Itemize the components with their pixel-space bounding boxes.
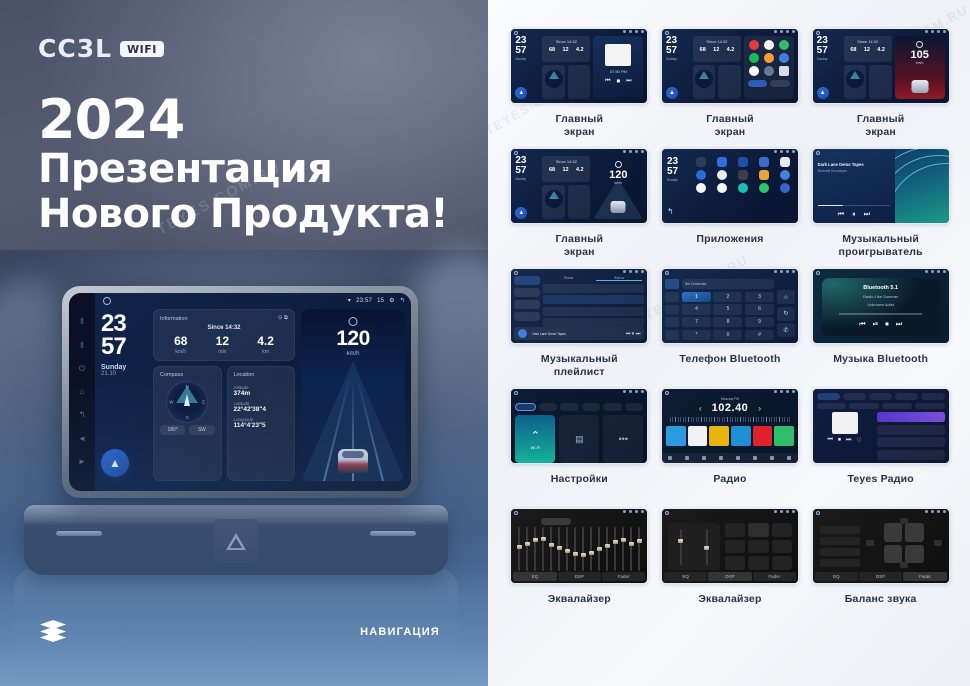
bt-track-label: Radio Like Summer [863,294,898,299]
stop-button[interactable]: ⏹ [885,321,889,329]
home-icon [665,271,669,275]
mini-home-screen: 2357Sunday ▲ Since 14:32 68124.2 [662,29,798,103]
tab-dsp[interactable]: DSP [558,572,601,581]
play-pause-button[interactable]: ⏯ [873,321,879,329]
key-3[interactable]: 3 [745,292,774,302]
home-icon [665,391,669,395]
mini-teyes-radio-screen: ⏮ ⏹ ⏭ ♡ [813,389,949,463]
key-9[interactable]: 9 [745,317,774,327]
key-hash[interactable]: # [745,330,774,340]
thumbnail-caption: Приложения [696,233,763,246]
preset-button[interactable] [725,540,745,554]
radio-frequency: 102.40 [712,402,749,414]
widgets-row: Compass N E S W [153,366,295,481]
compass-direction: SW [189,425,214,435]
preset-button[interactable] [725,556,745,570]
grid-cell[interactable]: Moscow FM ‹ 102.40 › [661,388,800,508]
favorite-icon[interactable]: ♡ [856,437,861,444]
thumbnail-apps[interactable]: 2357Sunday ↰ [661,148,799,224]
speaker-rear-left[interactable] [884,545,903,564]
thumbnail-home-apps[interactable]: 2357Sunday ▲ Since 14:32 68124.2 [661,28,799,104]
mini-music-player: Dark Lane Demo Tapes Виталий Белозеров ⏮… [813,149,949,223]
preset-button[interactable] [820,526,860,534]
compass-heading: 180° [160,425,185,435]
navigation-fab-button[interactable]: ▲ [817,87,829,99]
trip-stat: 4.2 km [257,335,274,355]
brand-logo: CC3L WIFI [38,34,164,63]
mini-status-bar [623,510,644,513]
hazard-triangle-icon [226,533,246,550]
band-slider[interactable] [566,527,568,571]
mini-status-bar [623,390,644,393]
preset-4[interactable] [731,426,751,446]
preset-button[interactable] [772,523,792,537]
grid-cell[interactable]: 2357Sunday ▲ Since 14:32 68124.2 [811,28,950,148]
air-vent-right [370,531,416,536]
caption-line: плейлист [541,366,618,379]
volume-level: 15 [377,298,384,304]
thumbnail-bluetooth-phone[interactable]: Not Connected 1 2 3 4 5 6 7 8 9 [661,268,799,344]
power-key-icon[interactable]: ⏻ [79,365,85,373]
home-key-icon[interactable]: ⌂ [80,388,85,396]
wifi-card[interactable]: ⌃ Wi-Fi [515,415,555,463]
speaker-front-left[interactable] [884,523,903,542]
caption-line: Баланс звука [845,593,917,606]
preset-2[interactable] [688,426,708,446]
dsp-slider[interactable] [680,529,682,565]
location-card[interactable]: Location Altitude 374m Latitude 22°42'38… [227,366,296,481]
speaker-quadrants[interactable] [884,523,924,563]
tab-home[interactable] [817,393,840,400]
mini-info-card: Since 14:32 68124.2 [542,36,590,62]
mini-clock-column: 2357 Sunday ▲ [515,36,539,99]
since-label: Since 14:32 [160,325,288,331]
band-slider[interactable] [598,527,600,571]
tab-fader[interactable]: Fader [903,572,946,581]
location-value: 22°42'38"4 [234,406,289,413]
balance-presets[interactable] [820,523,860,570]
grid-cell[interactable]: 2357Sunday ▲ Since 14:32 68124.2 [661,28,800,148]
thumbnail-caption: Баланс звука [845,593,917,606]
caption-line: Эквалайзер [698,593,761,606]
band-slider[interactable] [622,527,624,571]
tab-eq[interactable]: EQ [513,572,556,581]
equalizer-tabs[interactable]: EQ DSP Fader [813,572,949,583]
thumbnail-radio[interactable]: Moscow FM ‹ 102.40 › [661,388,799,464]
compass-mark-e: E [202,400,205,405]
favorite-icon[interactable]: ☆ [777,290,795,304]
mini-home-screen: 2357Sunday ▲ Since 14:32 68124.2 [813,29,949,103]
tab-wifi[interactable] [515,403,536,411]
back-icon[interactable]: ↰ [667,207,689,219]
key-1[interactable]: 1 [682,292,711,302]
location-value: 114°4'23"5 [234,422,289,429]
thumbnail-home-nav-105[interactable]: 2357Sunday ▲ Since 14:32 68124.2 [812,28,950,104]
track-title: Dark Lane Demo Tapes [818,162,890,167]
equalizer-bands[interactable] [518,527,640,571]
balance-right-button[interactable] [934,540,942,546]
tab-podcasts[interactable] [843,393,866,400]
home-icon [816,271,820,275]
previous-button[interactable]: ⏮ [859,321,865,329]
tab-sound[interactable] [539,403,558,411]
player-visualizer [895,149,949,223]
progress-bar[interactable] [818,205,890,207]
hazard-light-button[interactable] [214,519,258,563]
clock-block: 23 57 Sunday 21.10 [101,313,147,377]
teyes-station-list[interactable] [877,412,945,464]
radio-bottom-bar[interactable] [662,453,798,463]
settings-cards[interactable]: ⌃ Wi-Fi ▤ ••• [515,415,643,463]
preset-button[interactable] [725,523,745,537]
next-button[interactable]: ⏭ [896,321,902,329]
preset-button[interactable] [748,556,768,570]
prev-station-button[interactable]: ‹ [699,404,702,413]
head-unit-screen[interactable]: ⦀ ⦀ ⏻ ⌂ ↰ ◄ ► ▾ 23:57 15 [69,293,411,491]
key-2[interactable]: 2 [713,292,742,302]
key-4[interactable]: 4 [682,304,711,314]
mini-clock-column: 2357Sunday ▲ [817,36,841,99]
playlist-item[interactable] [543,318,644,327]
band-slider[interactable] [582,527,584,571]
band-slider[interactable] [518,527,520,571]
mini-info-card: Since 14:32 68124.2 [542,156,590,182]
navigation-fab-button[interactable]: ▲ [515,207,527,219]
mute-key-icon[interactable]: ⦀ [80,318,84,326]
mini-widgets-column: Since 14:32 68124.2 [542,156,590,219]
station-row[interactable] [877,450,945,460]
thumbnail-music-player[interactable]: Dark Lane Demo Tapes Виталий Белозеров ⏮… [812,148,950,224]
speaker-front-right[interactable] [905,523,924,542]
next-key-icon[interactable]: ⦀ [80,342,84,350]
preset-5[interactable] [753,426,773,446]
mini-location-card [718,65,741,99]
location-title: Location [234,372,289,378]
balance-down-button[interactable] [900,562,908,568]
thumbnail-teyes-radio[interactable]: ⏮ ⏹ ⏭ ♡ [812,388,950,464]
caption-line: Главный [706,113,754,126]
mini-clock-column: 2357Sunday ▲ [515,156,539,219]
back-key-icon[interactable]: ↰ [79,411,86,419]
thumbnail-caption: Телефон Bluetooth [679,353,780,366]
tab-dsp[interactable]: DSP [859,572,902,581]
caption-line: экран [556,246,604,259]
previous-button[interactable]: ⏮ [838,211,844,219]
grid-cell[interactable]: EQ DSP Fader Эквалайзер [661,508,800,628]
speed-limit-icon [349,317,358,326]
mini-widgets-row [693,65,741,99]
back-icon[interactable]: ↰ [400,297,405,304]
presentation-slide: TEYES.COM.RU TEYES.COM.RU TEYES.COM.RU C… [0,0,970,686]
mini-info-card: Since 14:32 68124.2 [844,36,892,62]
compass-readouts: 180° SW [160,425,215,435]
preset-button[interactable] [748,540,768,554]
navigation-fab-button[interactable]: ▲ [666,87,678,99]
speaker-rear-right[interactable] [905,545,924,564]
subtab-all[interactable] [817,403,847,409]
station-row[interactable] [877,412,945,422]
mini-settings-screen: ⌃ Wi-Fi ▤ ••• [511,389,647,463]
trip-stat: 68 km/h [174,335,187,355]
grid-cell[interactable]: Not Connected 1 2 3 4 5 6 7 8 9 [661,268,800,388]
mini-compass-card [693,65,716,99]
thumbnail-caption: Музыка Bluetooth [833,353,928,366]
grid-cell[interactable]: ПесниФайлы Dark Lane Demo Tapes ⏮ ⏸ ⏭ [510,268,649,388]
tab-apps[interactable] [582,403,601,411]
mini-speed-value: 105 [895,49,945,61]
caption-line: Настройки [551,473,608,486]
key-6[interactable]: 6 [745,304,774,314]
tab-system[interactable] [603,403,622,411]
trip-stats: 68 km/h 12 min 4.2 [160,335,288,355]
mini-widgets-row [844,65,892,99]
mini-status-bar [623,150,644,153]
teyes-controls[interactable]: ⏮ ⏹ ⏭ ♡ [828,437,862,444]
thumbnail-home-nav-120[interactable]: 2357Sunday ▲ Since 14:32 68124.2 [510,148,648,224]
bt-progress-bar[interactable] [839,313,922,314]
key-5[interactable]: 5 [713,304,742,314]
volume-up-key-icon[interactable]: ► [78,458,86,466]
grid-cell[interactable]: ⌃ Wi-Fi ▤ ••• Настройки [510,388,649,508]
tab-display[interactable] [560,403,579,411]
station-row[interactable] [877,437,945,447]
band-slider[interactable] [638,527,640,571]
headline-line2: Нового Продукта! [38,192,458,237]
band-slider[interactable] [614,527,616,571]
band-slider[interactable] [606,527,608,571]
dialer-sidebar[interactable] [665,276,679,340]
player-left: Dark Lane Demo Tapes Виталий Белозеров ⏮… [813,149,895,223]
preset-selector[interactable] [541,518,571,525]
mini-playlist-screen: ПесниФайлы Dark Lane Demo Tapes ⏮ ⏸ ⏭ [511,269,647,343]
mini-bt-music-screen: Bluetooth 5.1 Radio Like Summer Unknown … [813,269,949,343]
key-8[interactable]: 8 [713,317,742,327]
mini-status-bar [623,30,644,33]
stat-value: 68 [174,335,187,347]
compass-title: Compass [160,372,215,378]
next-station-button[interactable]: › [758,404,761,413]
thumbnail-caption: Teyes Радио [847,473,913,486]
teyes-tabs[interactable] [817,393,945,400]
band-slider[interactable] [526,527,528,571]
dialer-keypad[interactable]: 1 2 3 4 5 6 7 8 9 * 0 # [682,292,774,341]
band-slider[interactable] [534,527,536,571]
preset-3[interactable] [709,426,729,446]
widgets-column: Information ⊙ ⧉ Since 14:32 68 km/h [153,309,295,481]
previous-button[interactable]: ⏮ [828,437,833,444]
compass-card[interactable]: Compass N E S W [153,366,222,481]
dialer-input[interactable]: Not Connected [682,279,774,289]
balance-pad[interactable] [866,516,942,570]
compass-dial: N E S W [166,381,208,423]
grid-cell[interactable]: EQ DSP Fader Эквалайзер [510,508,649,628]
radio-tuner[interactable]: ‹ 102.40 › [662,402,798,414]
stop-button[interactable]: ⏹ [838,437,841,444]
dsp-sliders[interactable] [668,523,720,570]
preset-button[interactable] [820,559,860,567]
station-row[interactable] [877,425,945,435]
thumbnail-sound-balance[interactable]: EQ DSP Fader [812,508,950,584]
tab-music[interactable] [869,393,892,400]
caption-line: Музыка Bluetooth [833,353,928,366]
mini-app-shortcuts [744,36,794,99]
tab-fader[interactable]: Fader [753,572,796,581]
mini-status-bar [774,510,795,513]
car-avatar-icon [338,449,368,473]
navigation-fab-button[interactable]: ▲ [515,87,527,99]
caption-line: Радио [713,473,746,486]
stat-value: 12 [216,335,229,347]
data-usage-card[interactable]: ▤ [559,415,599,463]
air-vent-left [56,531,102,536]
radio-presets[interactable] [662,422,798,446]
mini-equalizer-screen: EQ DSP Fader [511,509,647,583]
key-7[interactable]: 7 [682,317,711,327]
mini-status-bar [925,510,946,513]
dialer-actions[interactable]: ☆ ↻ ✆ [777,276,795,340]
mini-equalizer-dsp-screen: EQ DSP Fader [662,509,798,583]
tab-eq[interactable]: EQ [664,572,707,581]
preset-button[interactable] [820,548,860,556]
playlist-item[interactable] [543,295,644,304]
thumbnail-equalizer-bands[interactable]: EQ DSP Fader [510,508,648,584]
settings-tabs[interactable] [515,403,643,411]
clock-minutes: 57 [101,336,147,359]
pause-button[interactable]: ⏸ [852,211,856,219]
grid-cell[interactable]: EQ DSP Fader Баланс звука [811,508,950,628]
home-icon[interactable] [103,297,111,305]
balance-left-button[interactable] [866,540,874,546]
mini-status-bar [774,150,795,153]
clock-column: 23 57 Sunday 21.10 ▲ [101,309,147,481]
stat-unit: km [257,349,274,355]
grid-cell[interactable]: 2357 Sunday ▲ Since 14:32 68124.2 [510,28,649,148]
dsp-presets[interactable] [725,523,792,570]
tab-dsp[interactable]: DSP [708,572,751,581]
preset-button[interactable] [820,537,860,545]
location-row: Longitude 114°4'23"5 [234,417,289,429]
thumbnail-caption: Эквалайзер [548,593,611,606]
thumbnail-caption: Главный экран [556,233,604,259]
mini-info-card: Since 14:32 68124.2 [693,36,741,62]
thumbnail-equalizer-dsp[interactable]: EQ DSP Fader [661,508,799,584]
next-button[interactable]: ⏭ [864,211,870,219]
mini-widgets-row [542,65,590,99]
gear-icon[interactable]: ⚙ [389,297,395,304]
grid-cell[interactable]: 2357Sunday ▲ Since 14:32 68124.2 [510,148,649,268]
mini-widgets-row [542,185,590,219]
wifi-badge: WIFI [120,41,164,57]
navigation-widget[interactable]: 120 km/h [301,309,405,481]
bt-controls[interactable]: ⏮ ⏯ ⏹ ⏭ [859,321,902,329]
balance-up-button[interactable] [900,518,908,524]
head-unit-side-keys[interactable]: ⦀ ⦀ ⏻ ⌂ ↰ ◄ ► [69,293,95,491]
mini-widgets-column: Since 14:32 68124.2 [844,36,892,99]
compass-mark-n: N [186,384,189,389]
mini-status-bar [925,30,946,33]
key-star[interactable]: * [682,330,711,340]
call-button[interactable]: ✆ [777,323,795,337]
playlist-now-playing-bar[interactable]: Dark Lane Demo Tapes ⏮ ⏸ ⏭ [514,327,644,340]
dialer-main: Not Connected 1 2 3 4 5 6 7 8 9 [682,276,774,340]
preset-button[interactable] [772,556,792,570]
thumbnail-caption: Эквалайзер [698,593,761,606]
subtab-recent[interactable] [915,403,945,409]
band-slider[interactable] [630,527,632,571]
mini-clock-column: 2357Sunday ▲ [666,36,690,99]
thumbnail-caption: Настройки [551,473,608,486]
information-title: Information [160,316,188,322]
information-card[interactable]: Information ⊙ ⧉ Since 14:32 68 km/h [153,309,295,361]
band-slider[interactable] [550,527,552,571]
mini-navigation-widget: 105 km/h [895,36,945,99]
thumbnail-home-music[interactable]: 2357 Sunday ▲ Since 14:32 68124.2 [510,28,648,104]
caption-line: экран [556,126,604,139]
stat-unit: min [216,349,229,355]
tab-settings[interactable] [921,393,944,400]
equalizer-tabs[interactable]: EQ DSP Fader [511,572,647,583]
grid-cell[interactable]: 2357Sunday ↰ [661,148,800,268]
mini-status-bar [774,270,795,273]
teyes-subtabs[interactable] [817,403,945,409]
next-button[interactable]: ⏭ [846,437,851,444]
home-icon [514,511,518,515]
playlist-item[interactable] [543,284,644,293]
band-slider[interactable] [542,527,544,571]
thumbnail-bluetooth-music[interactable]: Bluetooth 5.1 Radio Like Summer Unknown … [812,268,950,344]
tab-eq[interactable]: EQ [815,572,858,581]
mini-widgets-column: Since 14:32 68124.2 [693,36,741,99]
tab-fader[interactable]: Fader [602,572,645,581]
mini-status-bar [774,30,795,33]
clock-day: Sunday [101,364,147,371]
subtab-saved[interactable] [882,403,912,409]
thumbnail-settings[interactable]: ⌃ Wi-Fi ▤ ••• [510,388,648,464]
band-slider[interactable] [590,527,592,571]
mini-clock-column: 2357Sunday ↰ [667,157,689,219]
preset-1[interactable] [666,426,686,446]
mini-location-card [568,185,591,219]
tab-about[interactable] [625,403,644,411]
band-slider[interactable] [574,527,576,571]
navigation-fab-button[interactable]: ▲ [101,449,129,477]
preset-button[interactable] [772,540,792,554]
grid-cell[interactable]: ⏮ ⏹ ⏭ ♡ [811,388,950,508]
tab-favorites[interactable] [895,393,918,400]
mini-compass-card [844,65,867,99]
key-0[interactable]: 0 [713,330,742,340]
call-history-icon[interactable]: ↻ [777,307,795,321]
playlist-item[interactable] [543,307,644,316]
caption-line: экран [706,126,754,139]
chart-icon: ▤ [575,434,584,445]
grid-cell[interactable]: Dark Lane Demo Tapes Виталий Белозеров ⏮… [811,148,950,268]
app-icon-grid[interactable] [693,157,793,219]
information-card-actions[interactable]: ⊙ ⧉ [278,315,288,322]
grid-cell[interactable]: Bluetooth 5.1 Radio Like Summer Unknown … [811,268,950,388]
volume-down-key-icon[interactable]: ◄ [78,435,86,443]
equalizer-tabs[interactable]: EQ DSP Fader [662,572,798,583]
preset-button[interactable] [748,523,768,537]
player-controls[interactable]: ⏮ ⏸ ⏭ [818,211,890,219]
more-card[interactable]: ••• [603,415,643,463]
thumbnail-music-playlist[interactable]: ПесниФайлы Dark Lane Demo Tapes ⏮ ⏸ ⏭ [510,268,648,344]
subtab-local[interactable] [849,403,879,409]
mini-home-screen: 2357 Sunday ▲ Since 14:32 68124.2 [511,29,647,103]
preset-6[interactable] [774,426,794,446]
band-slider[interactable] [558,527,560,571]
dsp-slider[interactable] [706,529,708,565]
